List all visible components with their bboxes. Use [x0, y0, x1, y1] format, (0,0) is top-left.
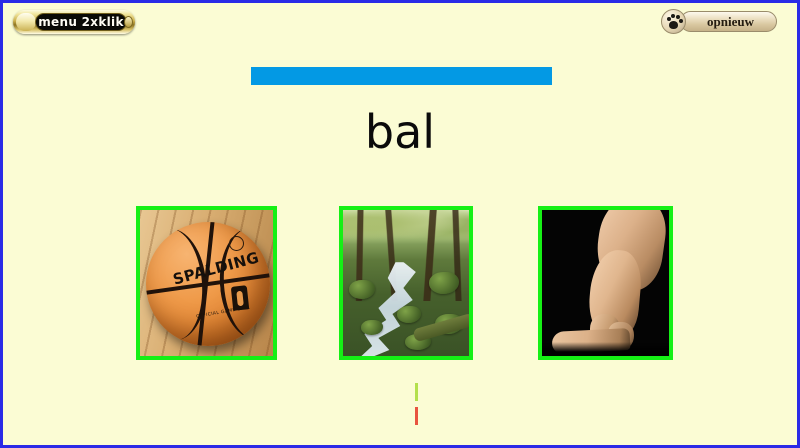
menu-button-plate: menu 2xklik	[35, 13, 127, 31]
restart-button-pill[interactable]: opnieuw	[680, 11, 777, 32]
ball-stamp-icon	[229, 236, 244, 251]
paw-toe-3	[676, 15, 680, 19]
target-word: bal	[3, 107, 797, 158]
progress-bar	[251, 67, 552, 85]
basketball-picture: SPALDING OFFICIAL GAME BALL	[140, 210, 273, 356]
restart-button-label: opnieuw	[707, 15, 754, 28]
exercise-screen: menu 2xklik opnieuw bal SPALDIN	[0, 0, 800, 448]
leg-picture	[542, 210, 669, 356]
score-correct-tick	[415, 383, 418, 401]
menu-button[interactable]: menu 2xklik	[13, 10, 135, 34]
menu-button-tail	[124, 16, 133, 28]
paw-toe-4	[679, 19, 683, 23]
leg-shadow	[542, 342, 669, 356]
picture-choice-leg[interactable]	[538, 206, 673, 360]
brook-picture	[343, 210, 469, 356]
picture-choice-basketball[interactable]: SPALDING OFFICIAL GAME BALL	[136, 206, 277, 360]
paw-print-icon	[661, 9, 686, 34]
score-wrong-tick	[415, 407, 418, 425]
paw-toe-2	[671, 14, 675, 18]
menu-button-label: menu 2xklik	[38, 16, 123, 28]
paw-pad-main	[669, 21, 678, 29]
menu-knob-icon	[16, 13, 36, 31]
picture-choice-brook[interactable]	[339, 206, 473, 360]
mossy-rock	[397, 306, 421, 323]
basketball-ball: SPALDING OFFICIAL GAME BALL	[146, 222, 270, 346]
restart-button[interactable]: opnieuw	[661, 9, 777, 33]
